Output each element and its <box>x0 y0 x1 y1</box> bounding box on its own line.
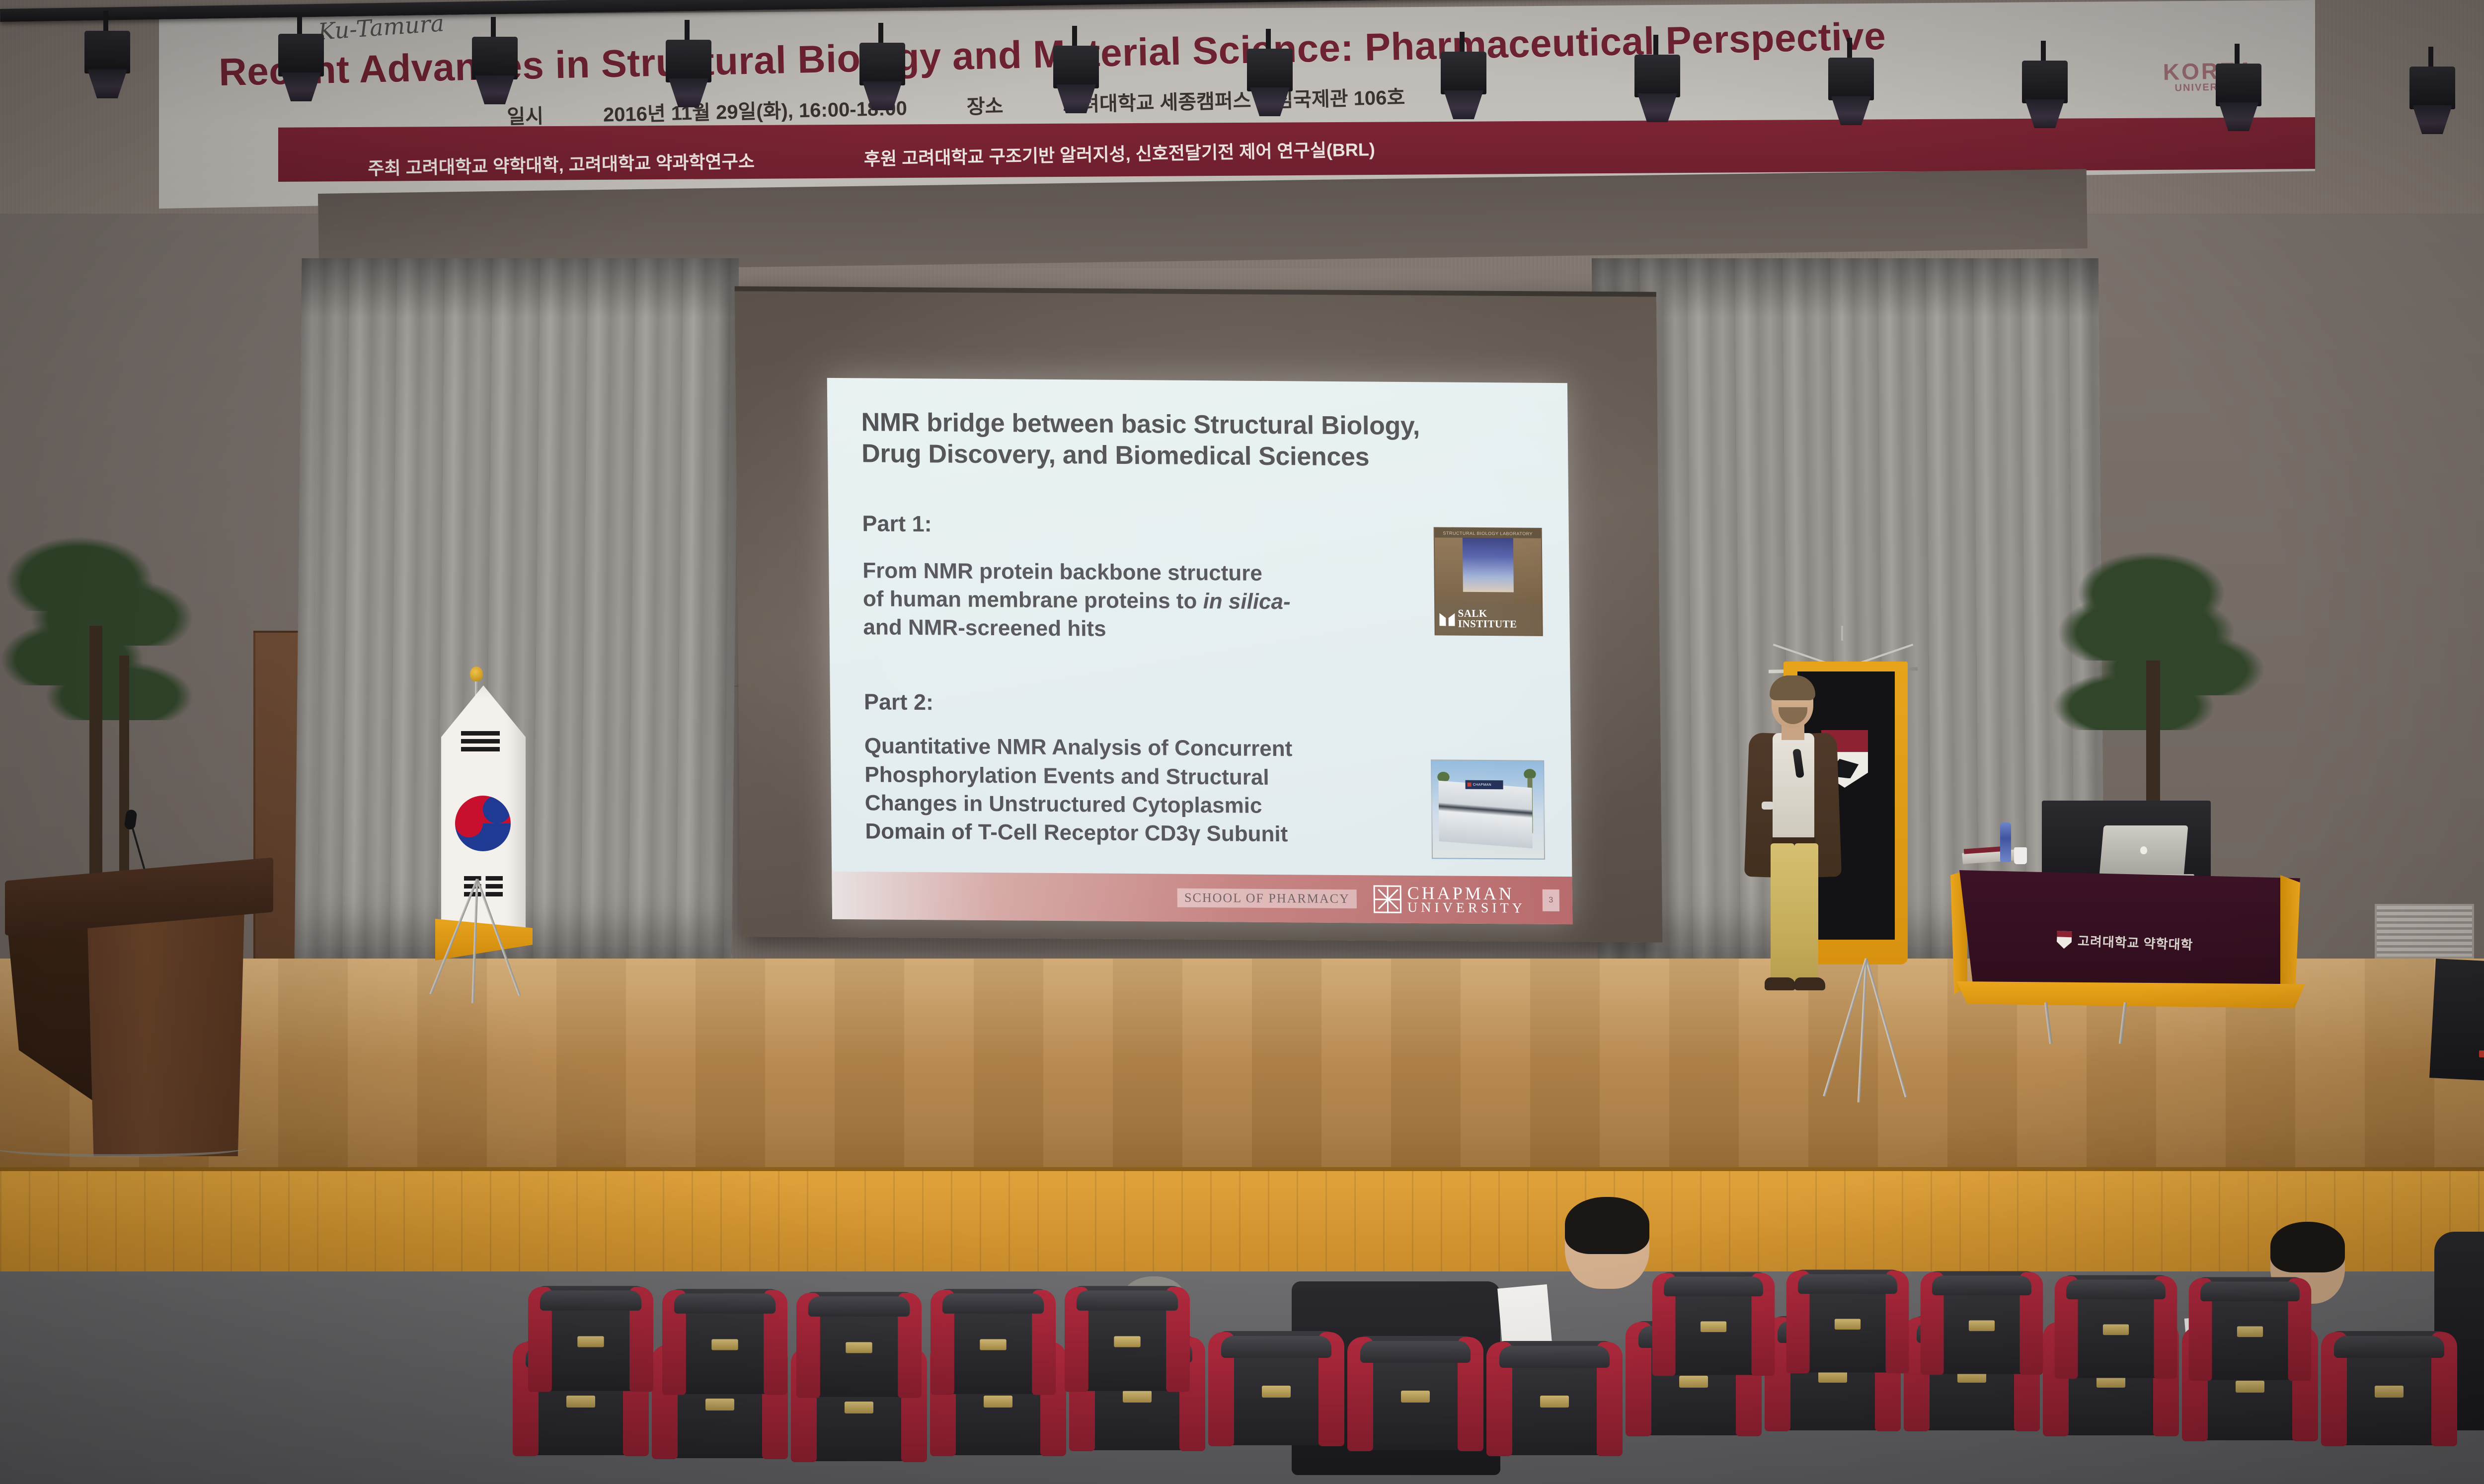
auditorium-seat[interactable] <box>2192 1277 2308 1380</box>
slide-title-line-1: NMR bridge between basic Structural Biol… <box>861 407 1536 443</box>
seat-number-plate <box>2236 1381 2264 1393</box>
seat-number-plate <box>1969 1321 1995 1332</box>
seat-number-plate <box>2375 1386 2404 1398</box>
south-korea-flag <box>427 675 542 1013</box>
lecture-hall-photo: Ku-Tamura Recent Advances in Structural … <box>0 0 2484 1484</box>
banner-place-label: 장소 <box>966 90 1004 120</box>
seat-number-plate <box>1540 1396 1569 1408</box>
projection-screen: NMR bridge between basic Structural Biol… <box>827 378 1573 924</box>
part-1-line-2-italic: in silica- <box>1203 589 1291 614</box>
stage-light-icon <box>1828 55 1874 129</box>
speaker-brand-badge-icon <box>2479 1050 2484 1057</box>
laptop-logo-icon <box>2140 846 2147 854</box>
flag-finial-icon <box>470 667 483 681</box>
seat-number-plate <box>1262 1386 1291 1398</box>
chapman-line-1: CHAPMAN <box>1407 884 1526 902</box>
stage-light-icon <box>666 37 711 111</box>
part-1-line-1: From NMR protein backbone structure <box>862 556 1300 588</box>
seat-number-plate <box>577 1336 604 1347</box>
salk-banner-text: STRUCTURAL BIOLOGY LABORATORY <box>1435 528 1541 538</box>
auditorium-seat[interactable] <box>2325 1331 2453 1445</box>
school-of-pharmacy-label: SCHOOL OF PHARMACY <box>1177 889 1357 909</box>
seat-number-plate <box>984 1396 1012 1408</box>
seat-number-plate <box>980 1339 1006 1350</box>
presenter-trouser-left <box>1771 843 1794 981</box>
trigram-geon-icon <box>461 731 500 755</box>
laptop-computer[interactable] <box>2101 825 2186 876</box>
chapman-university-logo: CHAPMAN UNIVERSITY <box>1374 884 1526 915</box>
audience-head <box>1565 1197 1649 1289</box>
presenter-shoe-right <box>1794 977 1825 990</box>
slide-page-number: 3 <box>1543 890 1559 911</box>
seat-number-plate <box>1818 1371 1847 1383</box>
banner-host-line: 주최 고려대학교 약학대학, 고려대학교 약과학연구소 <box>368 147 755 180</box>
part-2-line-1: Quantitative NMR Analysis of Concurrent <box>864 732 1302 763</box>
seat-number-plate <box>1835 1319 1861 1330</box>
auditorium-seat[interactable] <box>532 1286 649 1391</box>
podium-front-panel <box>80 908 244 1156</box>
seat-number-plate <box>705 1399 734 1410</box>
part-1-line-3: and NMR-screened hits <box>863 613 1301 645</box>
chapman-line-2: UNIVERSITY <box>1407 901 1526 915</box>
part-2-line-2: Phosphorylation Events and Structural <box>864 760 1302 792</box>
presenter-hair <box>1770 675 1815 700</box>
seat-number-plate <box>2237 1327 2263 1337</box>
auditorium-seat[interactable] <box>1068 1286 1186 1391</box>
stage-light-icon <box>278 31 324 105</box>
chapman-window-icon <box>1374 885 1402 913</box>
presenter-person <box>1743 679 1842 1007</box>
part-1-line-2: of human membrane proteins to in silica- <box>863 585 1301 616</box>
seat-number-plate <box>566 1396 595 1408</box>
stage-light-icon <box>859 40 905 114</box>
stage-monitor-speaker <box>2429 959 2484 1083</box>
auditorium-seat[interactable] <box>1490 1341 1619 1455</box>
part-1-body: From NMR protein backbone structure of h… <box>862 556 1301 645</box>
salk-institute-logo-image: STRUCTURAL BIOLOGY LABORATORY SALK INSTI… <box>1434 527 1543 636</box>
part-2-label: Part 2: <box>864 689 1539 720</box>
chapman-sign-text: CHAPMAN <box>1473 783 1491 786</box>
chapman-building-photo: CHAPMAN <box>1431 759 1545 860</box>
stage-light-icon <box>2022 58 2068 132</box>
salk-mark-icon <box>1439 611 1455 626</box>
taeguk-symbol-icon <box>455 796 511 851</box>
stage-light-icon <box>84 28 130 102</box>
part-1-line-2-plain: of human membrane proteins to <box>863 587 1203 613</box>
seat-number-plate <box>1123 1391 1152 1403</box>
presenter-trouser-right <box>1794 843 1818 981</box>
presentation-slide: NMR bridge between basic Structural Biol… <box>827 378 1573 924</box>
flag-cloth <box>441 685 526 944</box>
paper-cup-icon <box>2014 847 2027 864</box>
ku-crest-icon <box>2056 931 2072 949</box>
seat-number-plate <box>2103 1325 2129 1336</box>
auditorium-seat[interactable] <box>1924 1271 2039 1374</box>
seat-number-plate <box>1679 1376 1708 1388</box>
auditorium-seat[interactable] <box>1790 1270 1905 1373</box>
chapman-wordmark: CHAPMAN UNIVERSITY <box>1407 884 1526 915</box>
table-legs <box>2037 1002 2206 1045</box>
lectern-podium[interactable] <box>5 869 273 1167</box>
auditorium-seat[interactable] <box>800 1292 918 1397</box>
part-2-line-4: Domain of T-Cell Receptor CD3γ Subunit <box>865 817 1303 848</box>
seat-number-plate <box>845 1402 873 1413</box>
auditorium-seat[interactable] <box>1212 1331 1340 1445</box>
presenter-shoe-left <box>1765 977 1795 990</box>
wall-vent-grille <box>2375 904 2474 959</box>
water-bottle-icon <box>2000 822 2011 862</box>
slide-title-line-2: Drug Discovery, and Biomedical Sciences <box>861 439 1537 475</box>
stage-light-icon <box>1441 49 1486 123</box>
banner-sponsor-line: 후원 고려대학교 구조기반 알러지성, 신호전달기전 제어 연구실(BRL) <box>863 135 1375 171</box>
part-2-line-3: Changes in Unstructured Cytoplasmic <box>865 789 1303 820</box>
auditorium-seat[interactable] <box>934 1289 1052 1394</box>
floor-cable <box>0 1137 248 1157</box>
seat-number-plate <box>711 1339 738 1350</box>
slide-title: NMR bridge between basic Structural Biol… <box>861 407 1536 474</box>
stage-light-icon <box>1053 43 1099 117</box>
part-2-body: Quantitative NMR Analysis of Concurrent … <box>864 732 1303 849</box>
stage-light-icon <box>472 34 518 108</box>
auditorium-seat[interactable] <box>1351 1336 1479 1450</box>
stage-light-icon <box>1247 46 1293 120</box>
head-table: 고려대학교 약학대학 <box>1952 844 2310 1043</box>
korea-university-crest-icon <box>240 1036 273 1075</box>
auditorium-seat[interactable] <box>666 1289 783 1394</box>
stage-light-icon <box>1634 52 1680 126</box>
slide-footer: SCHOOL OF PHARMACY CHAPMAN UNIVERSITY 3 <box>832 872 1572 924</box>
presenter-shirt <box>1773 733 1814 837</box>
seat-number-plate <box>1401 1391 1430 1403</box>
seat-number-plate <box>1114 1336 1140 1347</box>
auditorium-seat[interactable] <box>1656 1272 1771 1375</box>
seat-number-plate <box>1701 1322 1726 1333</box>
chapman-building-sign: CHAPMAN <box>1466 780 1503 789</box>
stage-light-icon <box>2409 64 2455 138</box>
seat-number-plate <box>846 1342 872 1353</box>
auditorium-seat[interactable] <box>2058 1275 2173 1378</box>
presentation-clicker-icon <box>1762 802 1774 810</box>
stage-light-icon <box>2216 61 2261 135</box>
salk-institute-name: SALK INSTITUTE <box>1458 608 1542 630</box>
